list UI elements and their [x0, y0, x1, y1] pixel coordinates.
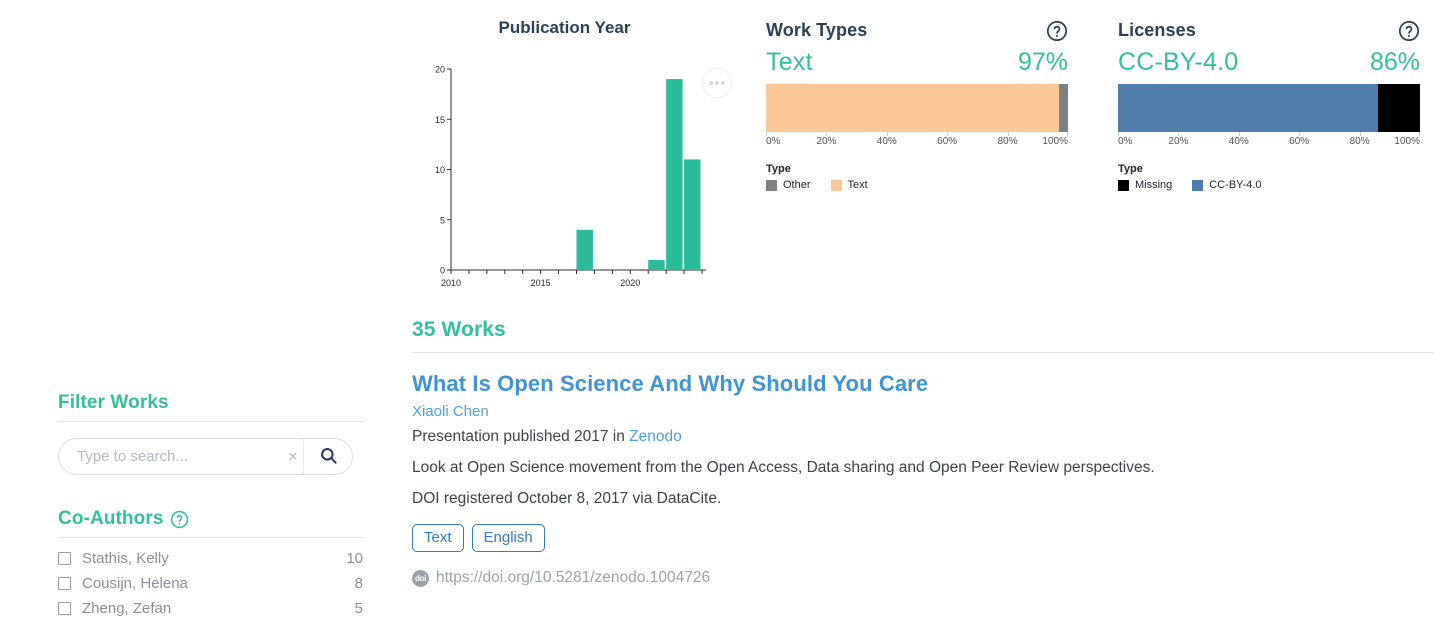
axis-tick-label: 100% [1394, 136, 1420, 147]
co-author-name: Cousijn, Helena [82, 575, 355, 592]
co-authors-label: Co-Authors [58, 508, 163, 530]
svg-text:5: 5 [440, 215, 445, 225]
legend-swatch [1192, 180, 1203, 191]
svg-text:0: 0 [440, 266, 445, 276]
svg-text:2015: 2015 [531, 278, 551, 288]
licenses-title: Licenses [1118, 20, 1196, 41]
legend-label: Other [783, 179, 811, 191]
work-meta: Presentation published 2017 in Zenodo [412, 428, 1434, 446]
help-icon[interactable] [1398, 20, 1420, 42]
svg-text:2010: 2010 [441, 278, 461, 288]
co-authors-divider [58, 537, 363, 538]
axis-tick-label: 80% [998, 136, 1018, 147]
legend-swatch [1118, 180, 1129, 191]
filter-works-divider [58, 421, 363, 422]
work-doi-row: doi https://doi.org/10.5281/zenodo.10047… [412, 569, 1434, 587]
co-author-name: Stathis, Kelly [82, 550, 346, 567]
licenses-panel: Licenses CC-BY-4.0 86% 0%20%40%60%80%100… [1118, 20, 1420, 191]
axis-tick-label: 0% [1118, 136, 1132, 147]
legend-label: Text [848, 179, 868, 191]
work-repository-link[interactable]: Zenodo [629, 428, 682, 445]
work-description: Look at Open Science movement from the O… [412, 459, 1434, 477]
search-button[interactable] [304, 439, 352, 474]
licenses-top-percent: 86% [1370, 48, 1420, 77]
legend-item[interactable]: Missing [1118, 179, 1172, 191]
axis-tick-label: 100% [1042, 136, 1068, 147]
work-types-legend: OtherText [766, 179, 1068, 191]
bar-segment[interactable] [1378, 84, 1420, 132]
work-title-link[interactable]: What Is Open Science And Why Should You … [412, 371, 928, 397]
list-item[interactable]: Stathis, Kelly 10 [58, 546, 363, 571]
help-icon[interactable] [170, 510, 189, 529]
search-icon [319, 446, 338, 468]
publication-year-title: Publication Year [412, 18, 717, 38]
axis-tick-label: 0% [766, 136, 780, 147]
axis-tick-label: 20% [1168, 136, 1188, 147]
work-meta-prefix: Presentation published 2017 in [412, 428, 629, 445]
work-types-title: Work Types [766, 20, 867, 41]
checkbox-icon[interactable] [58, 602, 71, 615]
works-count: 35 Works [412, 318, 1434, 342]
co-authors-list: Stathis, Kelly 10 Cousijn, Helena 8 Zhen… [58, 546, 363, 621]
licenses-legend-title: Type [1118, 163, 1420, 175]
co-author-name: Zheng, Zefan [82, 600, 355, 617]
work-types-top-label: Text [766, 48, 813, 77]
co-author-count: 10 [346, 550, 363, 567]
bar-segment[interactable] [1118, 84, 1378, 132]
svg-text:10: 10 [435, 165, 445, 175]
checkbox-icon[interactable] [58, 577, 71, 590]
work-types-summary: Text 97% [766, 48, 1068, 77]
co-author-count: 8 [355, 575, 363, 592]
filter-works-section: Filter Works × [58, 392, 363, 475]
axis-tick-label: 60% [937, 136, 957, 147]
list-item[interactable]: Zheng, Zefan 5 [58, 596, 363, 621]
axis-tick-label: 60% [1289, 136, 1309, 147]
search-box[interactable]: × [58, 438, 353, 475]
tag-text[interactable]: Text [412, 524, 464, 552]
search-input[interactable] [59, 439, 282, 474]
legend-label: CC-BY-4.0 [1209, 179, 1261, 191]
page-root: Filter Works × Co-Autho [0, 0, 1452, 625]
licenses-legend: MissingCC-BY-4.0 [1118, 179, 1420, 191]
licenses-top-label: CC-BY-4.0 [1118, 48, 1238, 77]
co-authors-heading: Co-Authors [58, 508, 363, 530]
bar [684, 159, 700, 270]
legend-label: Missing [1135, 179, 1172, 191]
list-item[interactable]: Cousijn, Helena 8 [58, 571, 363, 596]
axis-tick-label: 40% [877, 136, 897, 147]
work-types-legend-title: Type [766, 163, 1068, 175]
work-tags: Text English [412, 524, 1434, 552]
co-authors-section: Co-Authors Stathis, Kelly 10 [58, 508, 363, 621]
licenses-header: Licenses [1118, 20, 1420, 46]
filter-works-heading: Filter Works [58, 392, 363, 414]
axis-tick-label: 20% [816, 136, 836, 147]
tag-language[interactable]: English [472, 524, 545, 552]
publication-year-histogram[interactable]: 05101520201020152020 [424, 63, 724, 298]
work-types-header: Work Types [766, 20, 1068, 46]
svg-text:2020: 2020 [620, 278, 640, 288]
work-types-top-percent: 97% [1018, 48, 1068, 77]
co-author-count: 5 [355, 600, 363, 617]
clear-icon[interactable]: × [282, 448, 303, 465]
work-registration: DOI registered October 8, 2017 via DataC… [412, 490, 1434, 508]
bar [648, 260, 664, 270]
licenses-summary: CC-BY-4.0 86% [1118, 48, 1420, 77]
work-types-axis: 0%20%40%60%80%100% [766, 132, 1068, 150]
doi-icon: doi [412, 570, 429, 587]
svg-text:20: 20 [435, 65, 445, 75]
axis-tick-label: 40% [1229, 136, 1249, 147]
works-divider [412, 352, 1434, 353]
licenses-stacked-bar[interactable] [1118, 84, 1420, 132]
doi-link[interactable]: https://doi.org/10.5281/zenodo.1004726 [436, 569, 710, 587]
work-types-panel: Work Types Text 97% 0%20%40%60%80%100% T… [766, 20, 1068, 191]
bar [666, 79, 682, 270]
legend-swatch [766, 180, 777, 191]
bar-segment[interactable] [1059, 84, 1068, 132]
work-item: What Is Open Science And Why Should You … [412, 371, 1434, 587]
legend-item[interactable]: Text [831, 179, 868, 191]
legend-item[interactable]: Other [766, 179, 811, 191]
sidebar: Filter Works × Co-Autho [58, 0, 366, 625]
work-author-link[interactable]: Xiaoli Chen [412, 403, 1434, 420]
axis-tick-label: 80% [1350, 136, 1370, 147]
legend-item[interactable]: CC-BY-4.0 [1192, 179, 1261, 191]
works-section: 35 Works What Is Open Science And Why Sh… [412, 318, 1434, 587]
bar-segment[interactable] [766, 84, 1059, 132]
publication-year-chart-panel: Publication Year 05101520201020152020 [412, 18, 732, 308]
legend-swatch [831, 180, 842, 191]
help-icon[interactable] [1046, 20, 1068, 42]
filter-works-label: Filter Works [58, 392, 169, 414]
checkbox-icon[interactable] [58, 552, 71, 565]
licenses-axis: 0%20%40%60%80%100% [1118, 132, 1420, 150]
svg-text:15: 15 [435, 115, 445, 125]
work-types-stacked-bar[interactable] [766, 84, 1068, 132]
bar [577, 230, 593, 270]
